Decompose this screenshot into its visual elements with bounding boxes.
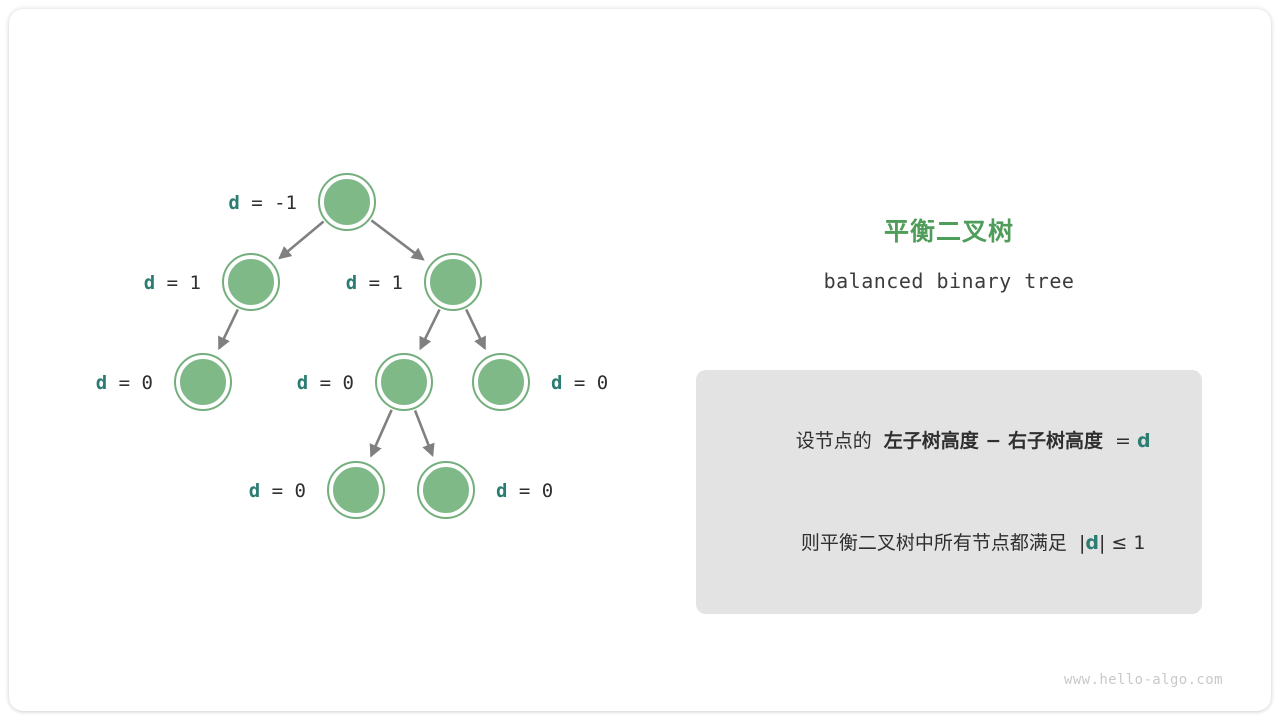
node-balance-label: d = 0 [96,372,153,394]
balance-variable-d: d [346,272,357,294]
note-variable-d-2: d [1085,532,1099,554]
tree-node[interactable] [328,462,384,518]
node-disc [477,358,525,406]
tree-edge [371,220,423,259]
node-disc [332,466,380,514]
tree-node[interactable] [223,254,279,310]
tree-node[interactable] [376,354,432,410]
balance-equals: = [260,480,294,502]
note-variable-d-1: d [1137,430,1151,452]
node-balance-label: d = 1 [144,272,201,294]
balance-value: 1 [190,272,201,294]
balance-value: 0 [542,480,553,502]
balance-variable-d: d [297,372,308,394]
site-watermark: www.hello-algo.com [1064,672,1223,688]
tree-node[interactable] [418,462,474,518]
balance-equals: = [562,372,596,394]
balance-variable-d: d [96,372,107,394]
node-balance-label: d = 0 [249,480,306,502]
balance-value: 1 [392,272,403,294]
balance-variable-d: d [551,372,562,394]
tree-node[interactable] [319,174,375,230]
balance-equals: = [507,480,541,502]
balance-variable-d: d [144,272,155,294]
note-equals-1: = [1115,430,1131,452]
node-disc [323,178,371,226]
balance-variable-d: d [228,192,239,214]
definition-line-1: 设节点的 左子树高度 − 右子树高度 = d [696,390,1202,492]
tree-edge [371,410,391,456]
balance-value: 0 [295,480,306,502]
panel-title-en: balanced binary tree [696,266,1202,296]
tree-edge [219,309,238,348]
note-inequality: ≤ 1 [1111,532,1145,554]
panel-title-zh: 平衡二叉树 [696,215,1202,249]
node-disc [227,258,275,306]
note-prefix-2: 则平衡二叉树中所有节点都满足 [801,532,1067,554]
tree-edge [466,309,485,348]
balance-value: -1 [274,192,297,214]
balance-equals: = [155,272,189,294]
balance-equals: = [240,192,274,214]
node-disc [422,466,470,514]
node-balance-label: d = 0 [297,372,354,394]
balance-value: 0 [142,372,153,394]
definition-line-2: 则平衡二叉树中所有节点都满足 |d| ≤ 1 [696,492,1202,594]
tree-edge [415,410,432,455]
node-disc [380,358,428,406]
diagram-canvas: d = -1d = 1d = 1d = 0d = 0d = 0d = 0d = … [0,0,1280,720]
tree-edge [421,309,440,348]
tree-node[interactable] [473,354,529,410]
node-balance-label: d = 0 [496,480,553,502]
node-disc [429,258,477,306]
tree-node[interactable] [425,254,481,310]
balance-variable-d: d [249,480,260,502]
node-balance-label: d = -1 [228,192,297,214]
balance-variable-d: d [496,480,507,502]
tree-node[interactable] [175,354,231,410]
node-balance-label: d = 0 [551,372,608,394]
note-bold-1: 左子树高度 − 右子树高度 [884,430,1103,452]
node-disc [179,358,227,406]
balance-value: 0 [343,372,354,394]
balance-value: 0 [597,372,608,394]
info-panel: 平衡二叉树 balanced binary tree 设节点的 左子树高度 − … [696,215,1202,296]
balance-equals: = [308,372,342,394]
definition-note-box: 设节点的 左子树高度 − 右子树高度 = d 则平衡二叉树中所有节点都满足 |d… [696,370,1202,614]
tree-nodes [175,174,529,518]
balance-equals: = [107,372,141,394]
node-balance-label: d = 1 [346,272,403,294]
balance-equals: = [357,272,391,294]
tree-node-labels: d = -1d = 1d = 1d = 0d = 0d = 0d = 0d = … [96,192,608,502]
tree-edge [280,222,324,258]
note-prefix-1: 设节点的 [796,430,872,452]
